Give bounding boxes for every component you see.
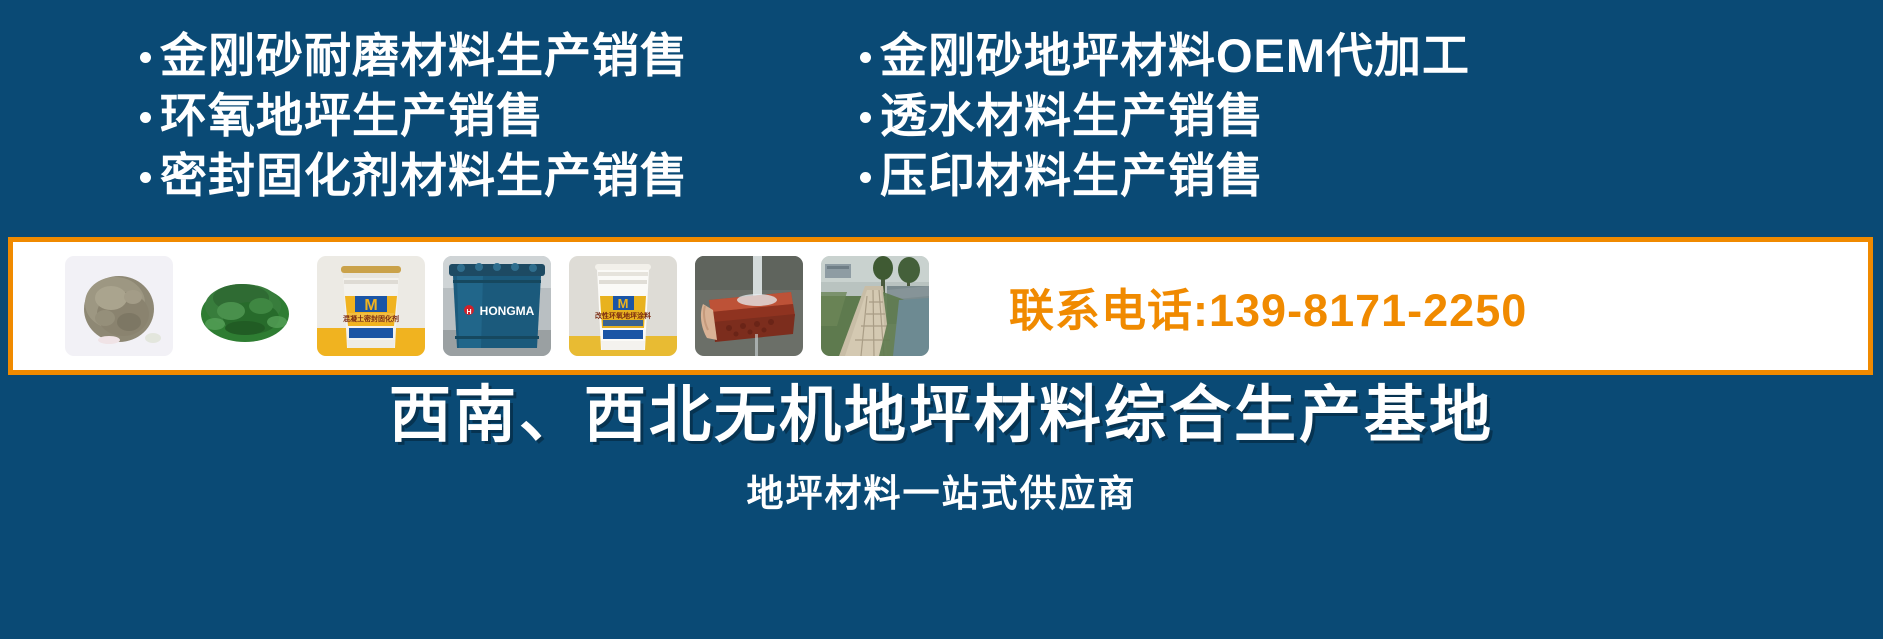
product-thumbnail[interactable] — [695, 256, 803, 356]
feature-item: 密封固化剂材料生产销售 — [140, 146, 840, 206]
feature-label: 金刚砂地坪材料OEM代加工 — [880, 26, 1470, 86]
product-thumbnail[interactable] — [821, 256, 929, 356]
bullet-dot-icon — [140, 52, 151, 63]
feature-item: 环氧地坪生产销售 — [140, 86, 840, 146]
feature-column-left: 金刚砂耐磨材料生产销售 环氧地坪生产销售 密封固化剂材料生产销售 — [140, 26, 840, 206]
product-thumbnail[interactable]: M 混凝土密封固化剂 — [317, 256, 425, 356]
feature-label: 环氧地坪生产销售 — [160, 86, 544, 146]
feature-label: 压印材料生产销售 — [880, 146, 1264, 206]
svg-text:改性环氧地坪涂料: 改性环氧地坪涂料 — [595, 311, 651, 320]
svg-text:HONGMA: HONGMA — [480, 304, 535, 318]
stamped-concrete-walkway-photo — [821, 256, 929, 356]
bullet-dot-icon — [140, 172, 151, 183]
advertising-banner: 金刚砂耐磨材料生产销售 环氧地坪生产销售 密封固化剂材料生产销售 金刚砂地坪材料… — [0, 0, 1883, 639]
contact-phone[interactable]: 联系电话:139-8171-2250 — [1009, 274, 1527, 339]
headline-container: 西南、西北无机地坪材料综合生产基地 — [0, 383, 1883, 450]
main-headline: 西南、西北无机地坪材料综合生产基地 — [389, 383, 1494, 450]
gray-aggregate-powder-photo — [65, 256, 173, 356]
feature-label: 透水材料生产销售 — [880, 86, 1264, 146]
product-thumbnail[interactable]: M 改性环氧地坪涂料 — [569, 256, 677, 356]
permeable-brick-water-photo — [695, 256, 803, 356]
svg-text:混凝土密封固化剂: 混凝土密封固化剂 — [343, 314, 399, 323]
subtitle-container: 地坪材料一站式供应商 — [0, 463, 1883, 517]
concrete-sealer-bucket-photo: M 混凝土密封固化剂 — [317, 256, 425, 356]
product-thumbnail[interactable]: H HONGMA — [443, 256, 551, 356]
feature-item: 透水材料生产销售 — [860, 86, 1740, 146]
svg-text:H: H — [466, 309, 471, 316]
product-thumbnail[interactable] — [65, 256, 173, 356]
green-aggregate-powder-photo — [191, 256, 299, 356]
feature-item: 压印材料生产销售 — [860, 146, 1740, 206]
bullet-dot-icon — [140, 112, 151, 123]
feature-item: 金刚砂耐磨材料生产销售 — [140, 26, 840, 86]
feature-label: 密封固化剂材料生产销售 — [160, 146, 688, 206]
bullet-dot-icon — [860, 112, 871, 123]
feature-item: 金刚砂地坪材料OEM代加工 — [860, 26, 1740, 86]
bullet-dot-icon — [860, 52, 871, 63]
hongma-steel-drum-photo: H HONGMA — [443, 256, 551, 356]
feature-lists: 金刚砂耐磨材料生产销售 环氧地坪生产销售 密封固化剂材料生产销售 金刚砂地坪材料… — [0, 26, 1883, 226]
feature-label: 金刚砂耐磨材料生产销售 — [160, 26, 688, 86]
feature-column-right: 金刚砂地坪材料OEM代加工 透水材料生产销售 压印材料生产销售 — [860, 26, 1740, 206]
svg-text:M: M — [618, 296, 629, 311]
sub-headline: 地坪材料一站式供应商 — [747, 463, 1137, 517]
svg-text:M: M — [364, 297, 377, 314]
product-thumbnail[interactable] — [191, 256, 299, 356]
product-showcase-panel: M 混凝土密封固化剂 — [8, 237, 1873, 375]
bullet-dot-icon — [860, 172, 871, 183]
product-thumbnail-strip: M 混凝土密封固化剂 — [65, 242, 947, 370]
epoxy-floor-coating-bucket-photo: M 改性环氧地坪涂料 — [569, 256, 677, 356]
